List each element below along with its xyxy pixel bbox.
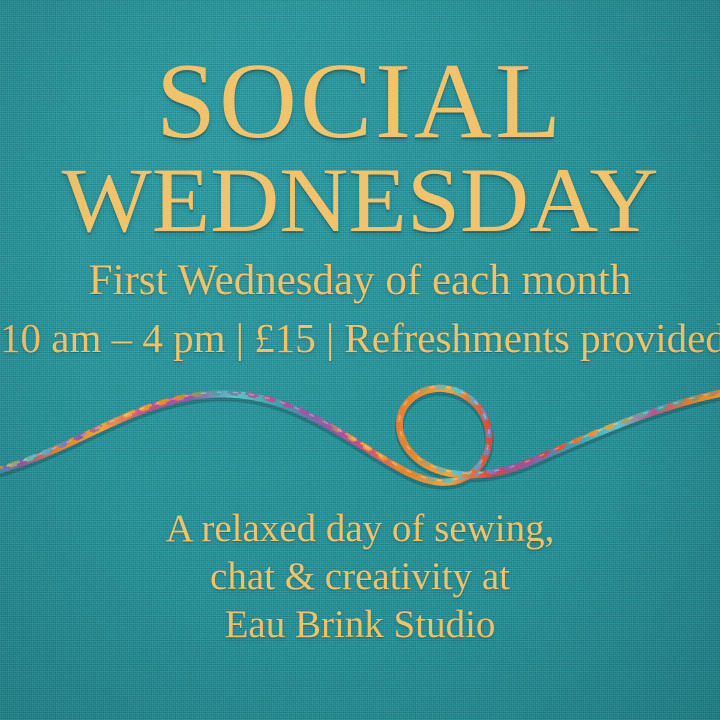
body-text-line-3: Eau Brink Studio — [0, 605, 720, 644]
event-details-subheading: 10 am – 4 pm | £15 | Refreshments provid… — [0, 318, 720, 359]
body-text-line-1: A relaxed day of sewing, — [0, 509, 720, 548]
headline-line-1: SOCIAL — [0, 48, 720, 156]
frequency-subheading: First Wednesday of each month — [0, 259, 720, 302]
poster-content: SOCIAL WEDNESDAY First Wednesday of each… — [0, 0, 720, 720]
body-text-line-2: chat & creativity at — [0, 557, 720, 596]
headline-line-2: WEDNESDAY — [0, 154, 720, 246]
social-wednesday-poster: SOCIAL WEDNESDAY First Wednesday of each… — [0, 0, 720, 720]
